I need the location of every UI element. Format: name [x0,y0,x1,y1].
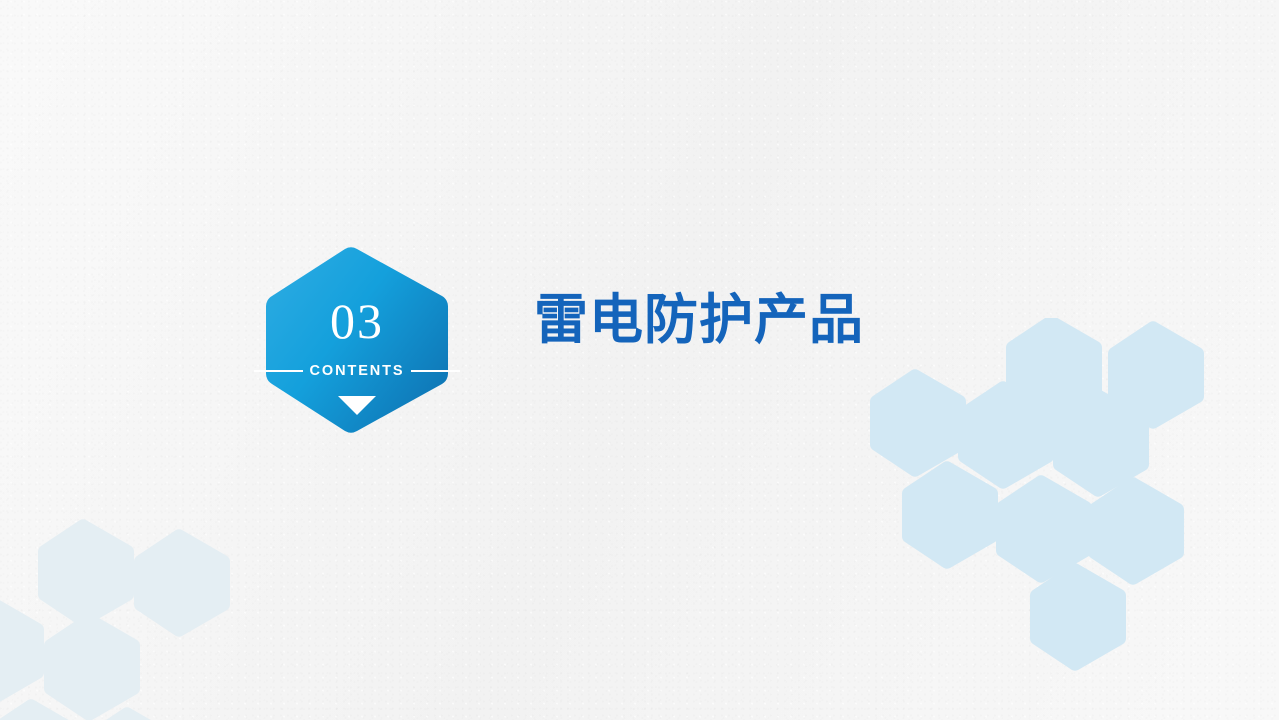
honeycomb-cell [870,369,966,476]
section-title: 雷电防护产品 [534,292,864,349]
honeycomb-cell [1006,318,1102,423]
honeycomb-cell [958,381,1054,488]
honeycomb-decoration-left [0,508,232,720]
badge-contents-label: CONTENTS [303,364,412,379]
badge-rule-left [254,370,303,372]
honeycomb-cell [82,707,178,720]
badge-rule-right [411,370,460,372]
honeycomb-cell [1088,477,1184,584]
honeycomb-cell [44,613,140,720]
honeycomb-right-svg [860,318,1220,678]
honeycomb-cell [996,475,1092,582]
background-texture [0,0,1279,720]
honeycomb-cell [0,597,44,704]
triangle-down-icon [338,396,376,415]
honeycomb-decoration-right [860,318,1220,678]
honeycomb-cell [0,699,82,720]
badge-contents-row: CONTENTS [254,362,460,380]
honeycomb-cell [134,529,230,636]
contents-badge: 03 CONTENTS [264,246,450,434]
honeycomb-left-svg [0,508,232,720]
slide-canvas: 03 CONTENTS 雷电防护产品 [0,0,1279,720]
honeycomb-cell [1108,321,1204,428]
honeycomb-cell [902,461,998,568]
honeycomb-cell [1053,389,1149,496]
honeycomb-cell [38,519,134,626]
badge-number: 03 [264,296,450,346]
honeycomb-cell [1030,563,1126,670]
